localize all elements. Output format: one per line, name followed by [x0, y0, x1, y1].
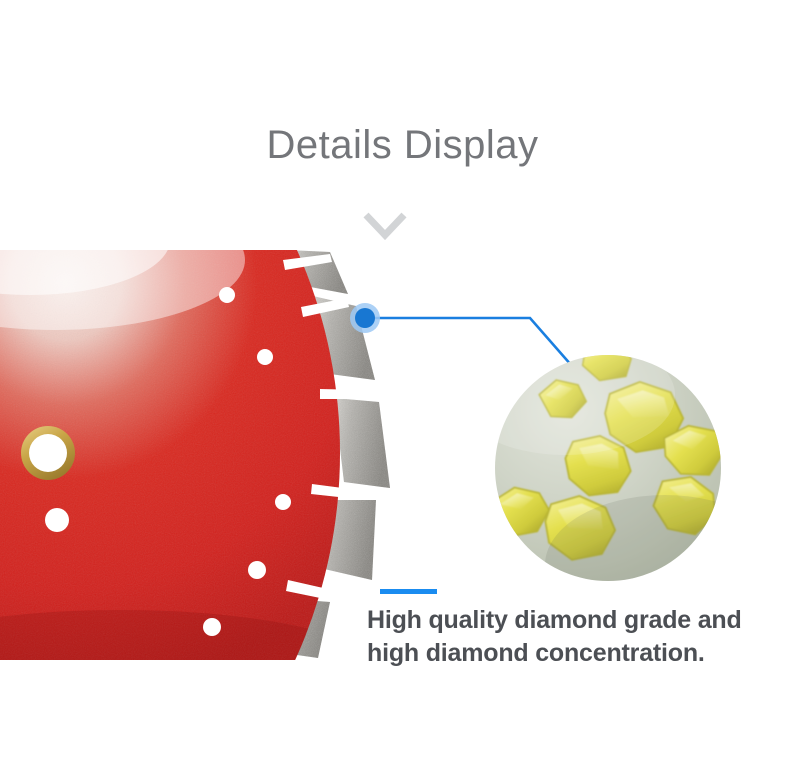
diamond-grit-magnified-view	[495, 355, 721, 581]
caption-accent-bar	[380, 589, 437, 594]
details-display-page: Details Display	[0, 0, 805, 761]
page-title: Details Display	[0, 123, 805, 167]
caption-line-1: High quality diamond grade and	[367, 604, 787, 637]
arbor-hole	[21, 426, 75, 480]
chevron-down-icon	[362, 209, 408, 241]
caption-line-2: high diamond concentration.	[367, 637, 787, 670]
callout-dot	[355, 308, 375, 328]
caption-text: High quality diamond grade and high diam…	[367, 604, 787, 671]
